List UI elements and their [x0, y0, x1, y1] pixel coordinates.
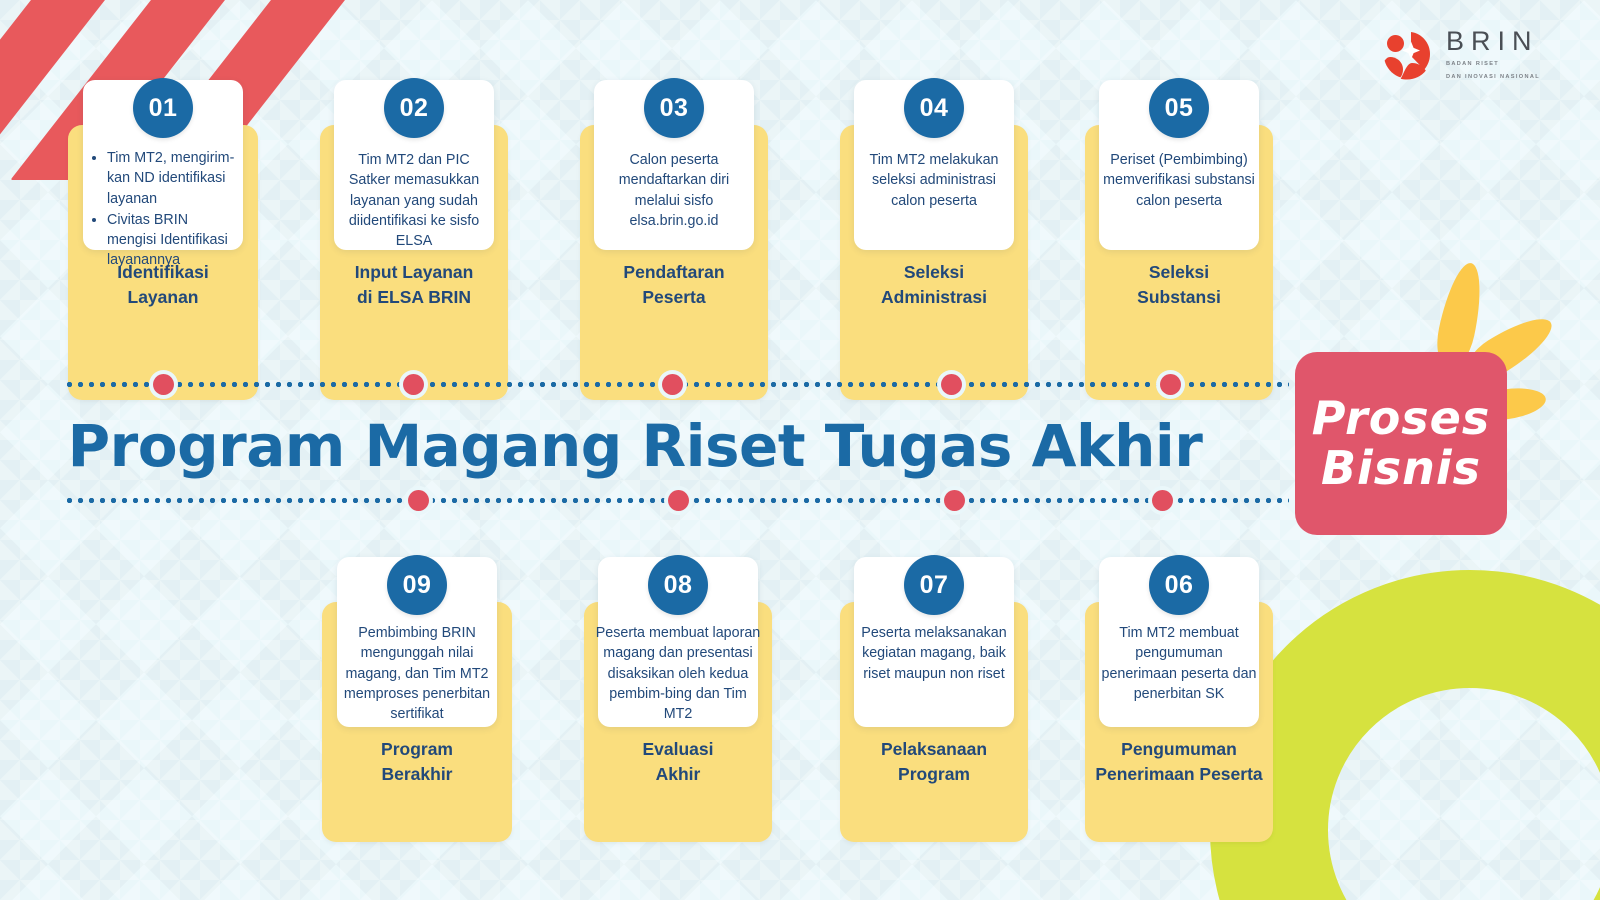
badge-line-2: Bisnis	[1321, 444, 1481, 494]
step-number: 01	[149, 94, 178, 123]
timeline-node	[668, 490, 689, 511]
step-label-line2: Berakhir	[322, 762, 512, 787]
step-number-badge: 07	[904, 555, 964, 615]
step-label-line1: Identifikasi	[68, 260, 258, 285]
step-number: 04	[920, 94, 949, 123]
step-label: Identifikasi Layanan	[68, 260, 258, 310]
brin-mark-icon	[1381, 29, 1433, 81]
step-label-line1: Pengumuman	[1079, 737, 1279, 762]
timeline-node	[408, 490, 429, 511]
step-body: Tim MT2 membuat pengumuman penerimaan pe…	[1099, 623, 1259, 704]
step-label-line2: Penerimaan Peserta	[1079, 762, 1279, 787]
step-number-badge: 01	[133, 78, 193, 138]
timeline-node	[153, 374, 174, 395]
step-bullet: Tim MT2, mengirim-kan ND identifikasi la…	[107, 148, 238, 209]
timeline-node	[1160, 374, 1181, 395]
step-number-badge: 02	[384, 78, 444, 138]
step-label: Pendaftaran Peserta	[580, 260, 768, 310]
step-body: Tim MT2, mengirim-kan ND identifikasi la…	[90, 148, 238, 272]
step-label-line2: Program	[840, 762, 1028, 787]
step-number: 09	[403, 571, 432, 600]
step-label-line1: Input Layanan	[320, 260, 508, 285]
infographic-canvas: BRIN BADAN RISET DAN INOVASI NASIONAL 01…	[0, 0, 1600, 900]
step-label-line1: Pendaftaran	[580, 260, 768, 285]
step-body: Peserta membuat laporan magang dan prese…	[594, 623, 762, 724]
step-body: Periset (Pembimbing) memverifikasi subst…	[1101, 150, 1257, 211]
step-label-line1: Pelaksanaan	[840, 737, 1028, 762]
step-number-badge: 09	[387, 555, 447, 615]
step-number-badge: 05	[1149, 78, 1209, 138]
step-label: Input Layanan di ELSA BRIN	[320, 260, 508, 310]
step-label-line2: Substansi	[1085, 285, 1273, 310]
badge-line-1: Proses	[1312, 394, 1491, 444]
brin-logo: BRIN BADAN RISET DAN INOVASI NASIONAL	[1381, 28, 1540, 81]
step-label: Seleksi Substansi	[1085, 260, 1273, 310]
timeline-node	[941, 374, 962, 395]
step-number: 06	[1165, 571, 1194, 600]
timeline-node	[403, 374, 424, 395]
step-label: Seleksi Administrasi	[840, 260, 1028, 310]
timeline-node	[662, 374, 683, 395]
step-body: Tim MT2 dan PIC Satker memasukkan layana…	[338, 150, 490, 251]
brin-name: BRIN	[1446, 28, 1540, 55]
brin-wordmark: BRIN BADAN RISET DAN INOVASI NASIONAL	[1446, 28, 1540, 81]
step-body: Peserta melaksanakan kegiatan magang, ba…	[850, 623, 1018, 684]
step-number: 02	[400, 94, 429, 123]
timeline-node	[944, 490, 965, 511]
step-body: Calon peserta mendaftarkan diri melalui …	[598, 150, 750, 231]
timeline-node	[1152, 490, 1173, 511]
step-label: Evaluasi Akhir	[584, 737, 772, 787]
step-number: 08	[664, 571, 693, 600]
step-label-line2: Administrasi	[840, 285, 1028, 310]
step-body: Tim MT2 melakukan seleksi administrasi c…	[856, 150, 1012, 211]
step-label: Pengumuman Penerimaan Peserta	[1079, 737, 1279, 787]
step-label-line2: Peserta	[580, 285, 768, 310]
step-number-badge: 08	[648, 555, 708, 615]
step-label-line1: Program	[322, 737, 512, 762]
step-label: Pelaksanaan Program	[840, 737, 1028, 787]
step-label-line1: Seleksi	[1085, 260, 1273, 285]
step-label-line1: Evaluasi	[584, 737, 772, 762]
step-body: Pembimbing BRIN mengunggah nilai magang,…	[332, 623, 502, 724]
step-label: Program Berakhir	[322, 737, 512, 787]
step-label-line1: Seleksi	[840, 260, 1028, 285]
proses-bisnis-badge: Proses Bisnis	[1295, 352, 1507, 535]
step-label-line2: Layanan	[68, 285, 258, 310]
step-label-line2: Akhir	[584, 762, 772, 787]
brin-tagline-1: BADAN RISET	[1446, 60, 1540, 68]
step-number: 05	[1165, 94, 1194, 123]
step-number: 03	[660, 94, 689, 123]
step-number: 07	[920, 571, 949, 600]
step-number-badge: 04	[904, 78, 964, 138]
step-number-badge: 03	[644, 78, 704, 138]
step-label-line2: di ELSA BRIN	[320, 285, 508, 310]
brin-tagline-2: DAN INOVASI NASIONAL	[1446, 73, 1540, 81]
step-number-badge: 06	[1149, 555, 1209, 615]
